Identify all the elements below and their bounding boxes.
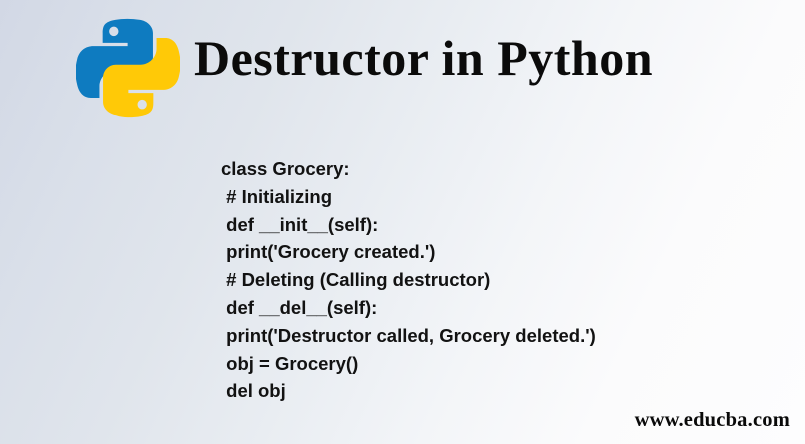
slide-canvas: Destructor in Python class Grocery: # In… xyxy=(0,0,805,444)
page-title: Destructor in Python xyxy=(194,27,653,89)
code-block: class Grocery: # Initializing def __init… xyxy=(221,155,596,405)
code-line: class Grocery: xyxy=(221,155,596,183)
code-line: print('Grocery created.') xyxy=(221,238,596,266)
code-line: # Deleting (Calling destructor) xyxy=(221,266,596,294)
code-line: def __init__(self): xyxy=(221,211,596,239)
code-line: # Initializing xyxy=(221,183,596,211)
watermark-url: www.educba.com xyxy=(635,409,790,432)
code-line: obj = Grocery() xyxy=(221,350,596,378)
python-logo xyxy=(76,14,180,122)
code-line: def __del__(self): xyxy=(221,294,596,322)
code-line: del obj xyxy=(221,377,596,405)
code-line: print('Destructor called, Grocery delete… xyxy=(221,322,596,350)
